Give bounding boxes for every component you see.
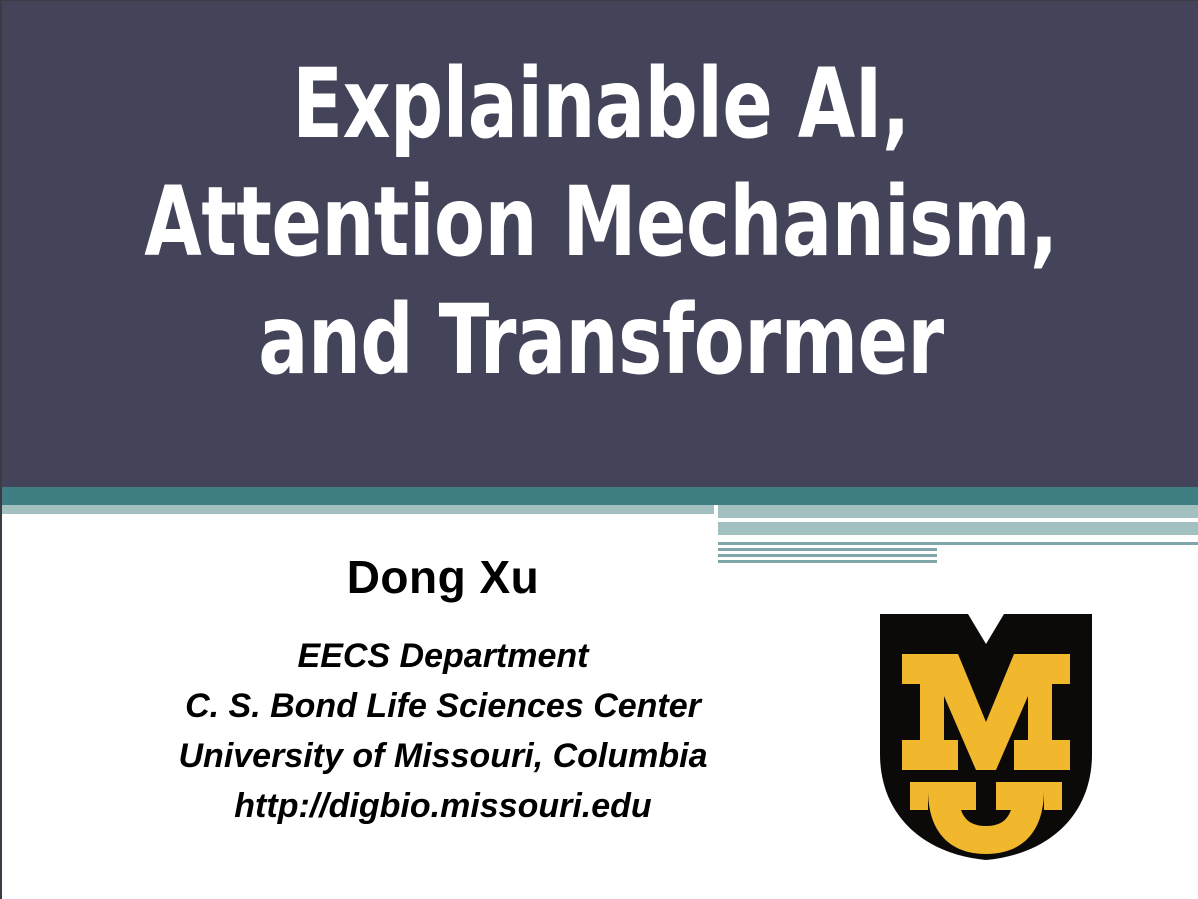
affiliation-line-1: EECS Department xyxy=(98,631,788,681)
decor-notch-2 xyxy=(935,535,1198,540)
accent-bar-teal-light xyxy=(2,505,714,514)
title-line-1: Explainable AI, xyxy=(86,45,1116,163)
title-band: Explainable AI, Attention Mechanism, and… xyxy=(2,1,1198,487)
affiliation-line-3: University of Missouri, Columbia xyxy=(98,731,788,781)
title-line-2: Attention Mechanism, xyxy=(86,163,1116,281)
mu-logo xyxy=(880,614,1092,860)
decor-block-1 xyxy=(718,505,1198,518)
slide-title: Explainable AI, Attention Mechanism, and… xyxy=(86,45,1116,399)
presentation-slide: Explainable AI, Attention Mechanism, and… xyxy=(0,0,1198,899)
decor-line-1 xyxy=(718,542,1198,545)
title-line-3: and Transformer xyxy=(86,281,1116,399)
affiliation-block: EECS Department C. S. Bond Life Sciences… xyxy=(98,631,788,831)
presenter-name: Dong Xu xyxy=(98,549,788,605)
presenter-block: Dong Xu EECS Department C. S. Bond Life … xyxy=(98,549,788,831)
affiliation-url[interactable]: http://digbio.missouri.edu xyxy=(98,781,788,831)
affiliation-line-2: C. S. Bond Life Sciences Center xyxy=(98,681,788,731)
decor-block-2 xyxy=(718,522,1198,535)
accent-bar-teal xyxy=(2,487,1198,505)
